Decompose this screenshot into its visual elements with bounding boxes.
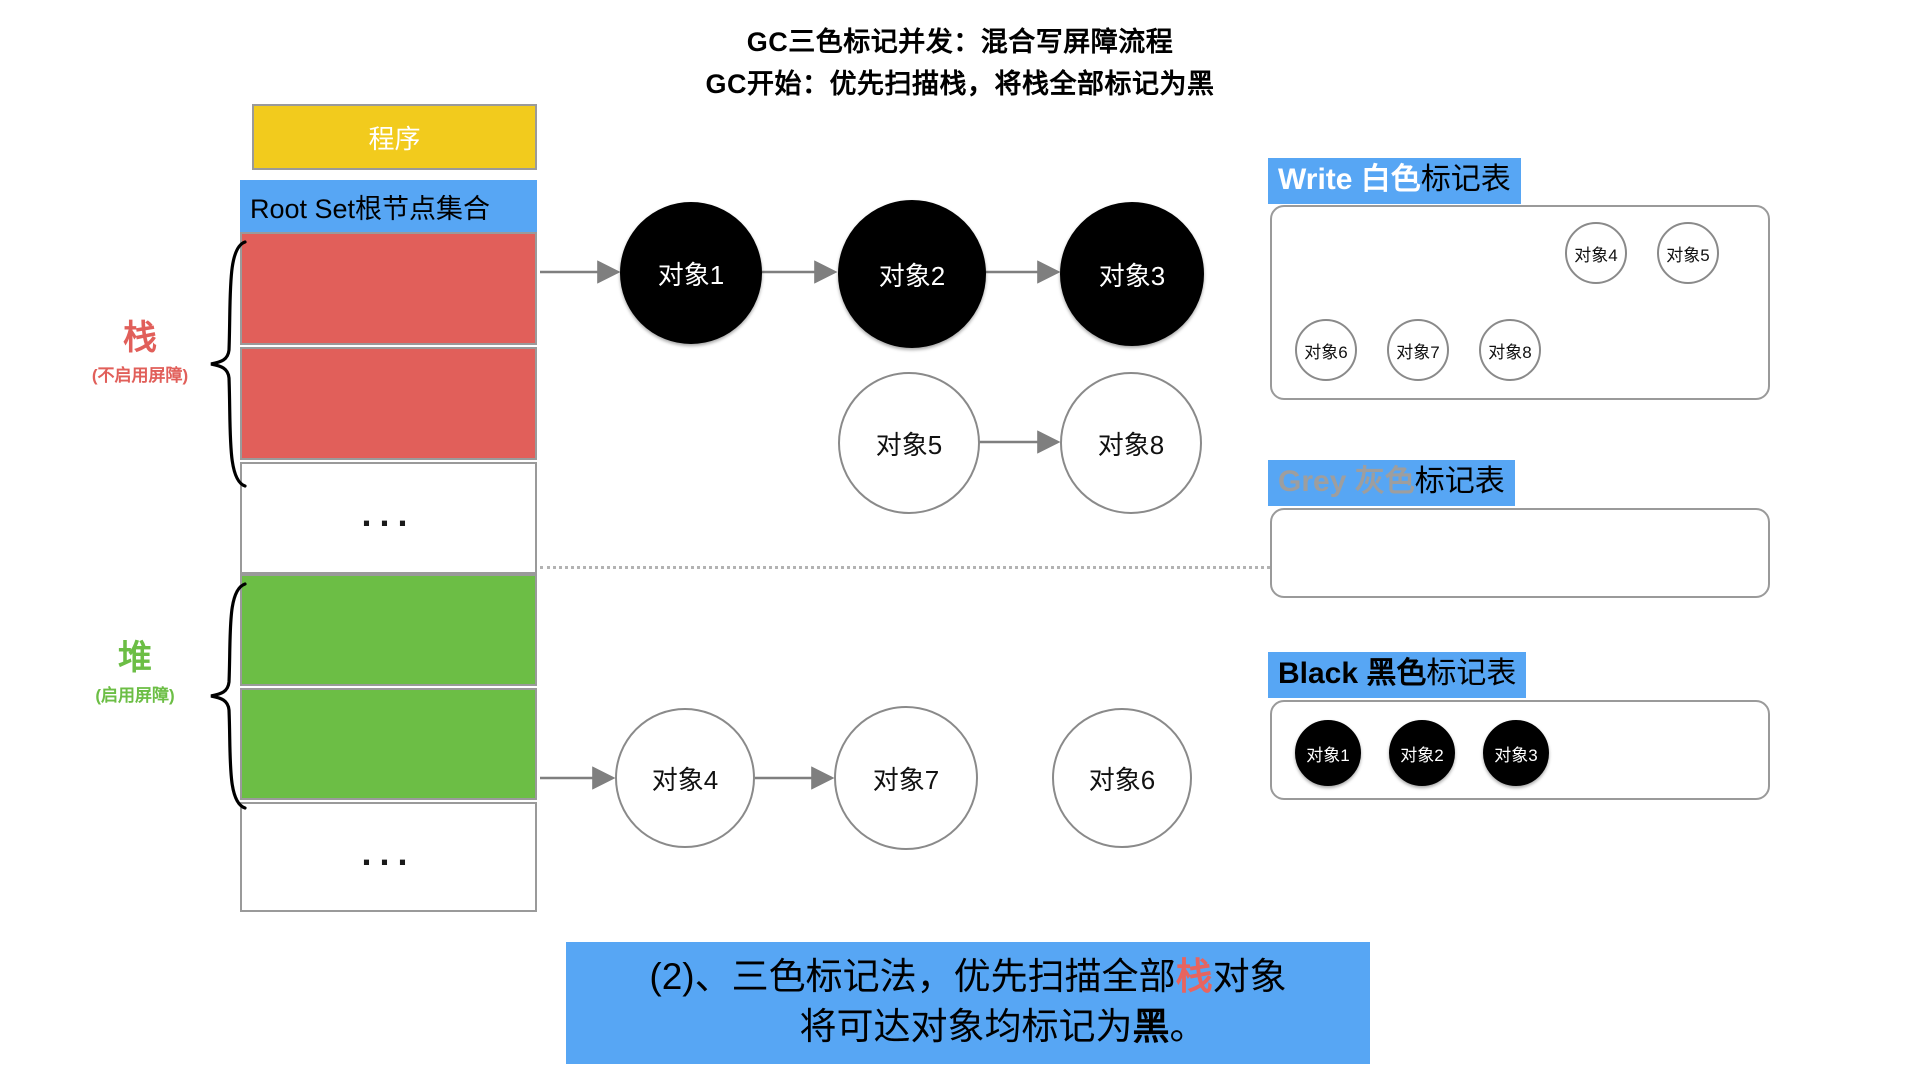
white-table-chip-object-5[interactable]: 对象5 (1657, 222, 1719, 284)
white-table-chip-object-7[interactable]: 对象7 (1387, 319, 1449, 381)
graph-node-object-2[interactable]: 对象2 (838, 200, 986, 348)
graph-node-label: 对象6 (1089, 760, 1155, 797)
chip-label: 对象7 (1396, 338, 1439, 363)
black-table-chip-object-1[interactable]: 对象1 (1295, 720, 1361, 786)
graph-node-object-8[interactable]: 对象8 (1060, 372, 1202, 514)
caption-line1-highlight: 栈 (1176, 956, 1213, 997)
grey-mark-table-panel (1270, 508, 1770, 598)
graph-node-label: 对象5 (876, 425, 942, 462)
black-mark-table-title: Black 黑色标记表 (1268, 652, 1526, 698)
white-title-en: Write (1278, 163, 1352, 196)
chip-label: 对象3 (1494, 741, 1537, 766)
graph-node-label: 对象4 (652, 760, 718, 797)
black-title-en: Black (1278, 657, 1358, 690)
graph-node-object-3[interactable]: 对象3 (1060, 202, 1204, 346)
black-table-chip-object-2[interactable]: 对象2 (1389, 720, 1455, 786)
caption-line2-part-b: 。 (1170, 1006, 1207, 1047)
grey-title-en: Grey (1278, 465, 1346, 498)
graph-node-object-7[interactable]: 对象7 (834, 706, 978, 850)
black-title-cn-colored: 黑色 (1358, 657, 1426, 690)
graph-node-object-5[interactable]: 对象5 (838, 372, 980, 514)
grey-title-cn-colored: 灰色 (1346, 465, 1414, 498)
graph-node-label: 对象3 (1099, 256, 1165, 293)
chip-label: 对象8 (1488, 338, 1531, 363)
white-mark-table-title: Write 白色标记表 (1268, 158, 1521, 204)
graph-node-label: 对象2 (879, 256, 945, 293)
black-table-chip-object-3[interactable]: 对象3 (1483, 720, 1549, 786)
caption-line-2: 将可达对象均标记为黑。 (566, 1002, 1370, 1052)
grey-title-cn-plain: 标记表 (1415, 465, 1505, 498)
white-title-cn-colored: 白色 (1352, 163, 1420, 196)
diagram-canvas: GC三色标记并发：混合写屏障流程 GC开始：优先扫描栈，将栈全部标记为黑 程序 … (0, 0, 1920, 1080)
chip-label: 对象6 (1304, 338, 1347, 363)
graph-node-object-6[interactable]: 对象6 (1052, 708, 1192, 848)
graph-node-object-4[interactable]: 对象4 (615, 708, 755, 848)
white-table-chip-object-6[interactable]: 对象6 (1295, 319, 1357, 381)
section-divider (540, 566, 1282, 569)
chip-label: 对象1 (1306, 741, 1349, 766)
white-mark-table-panel: 对象4 对象5 对象6 对象7 对象8 (1270, 205, 1770, 400)
caption-line-1: (2)、三色标记法，优先扫描全部栈对象 (649, 956, 1286, 997)
caption-line1-part-b: 对象 (1213, 956, 1287, 997)
graph-node-label: 对象7 (873, 760, 939, 797)
caption-line2-highlight: 黑 (1133, 1006, 1170, 1047)
caption-line1-part-a: (2)、三色标记法，优先扫描全部 (649, 956, 1175, 997)
caption-line2-part-a: 将可达对象均标记为 (800, 1006, 1133, 1047)
graph-node-object-1[interactable]: 对象1 (620, 202, 762, 344)
chip-label: 对象2 (1400, 741, 1443, 766)
white-table-chip-object-8[interactable]: 对象8 (1479, 319, 1541, 381)
black-mark-table-panel: 对象1 对象2 对象3 (1270, 700, 1770, 800)
black-title-cn-plain: 标记表 (1426, 657, 1516, 690)
chip-label: 对象5 (1666, 241, 1709, 266)
white-title-cn-plain: 标记表 (1421, 163, 1511, 196)
graph-node-label: 对象1 (658, 255, 724, 292)
grey-mark-table-title: Grey 灰色标记表 (1268, 460, 1515, 506)
chip-label: 对象4 (1574, 241, 1617, 266)
white-table-chip-object-4[interactable]: 对象4 (1565, 222, 1627, 284)
graph-node-label: 对象8 (1098, 425, 1164, 462)
diagram-caption: (2)、三色标记法，优先扫描全部栈对象 将可达对象均标记为黑。 (566, 942, 1370, 1064)
